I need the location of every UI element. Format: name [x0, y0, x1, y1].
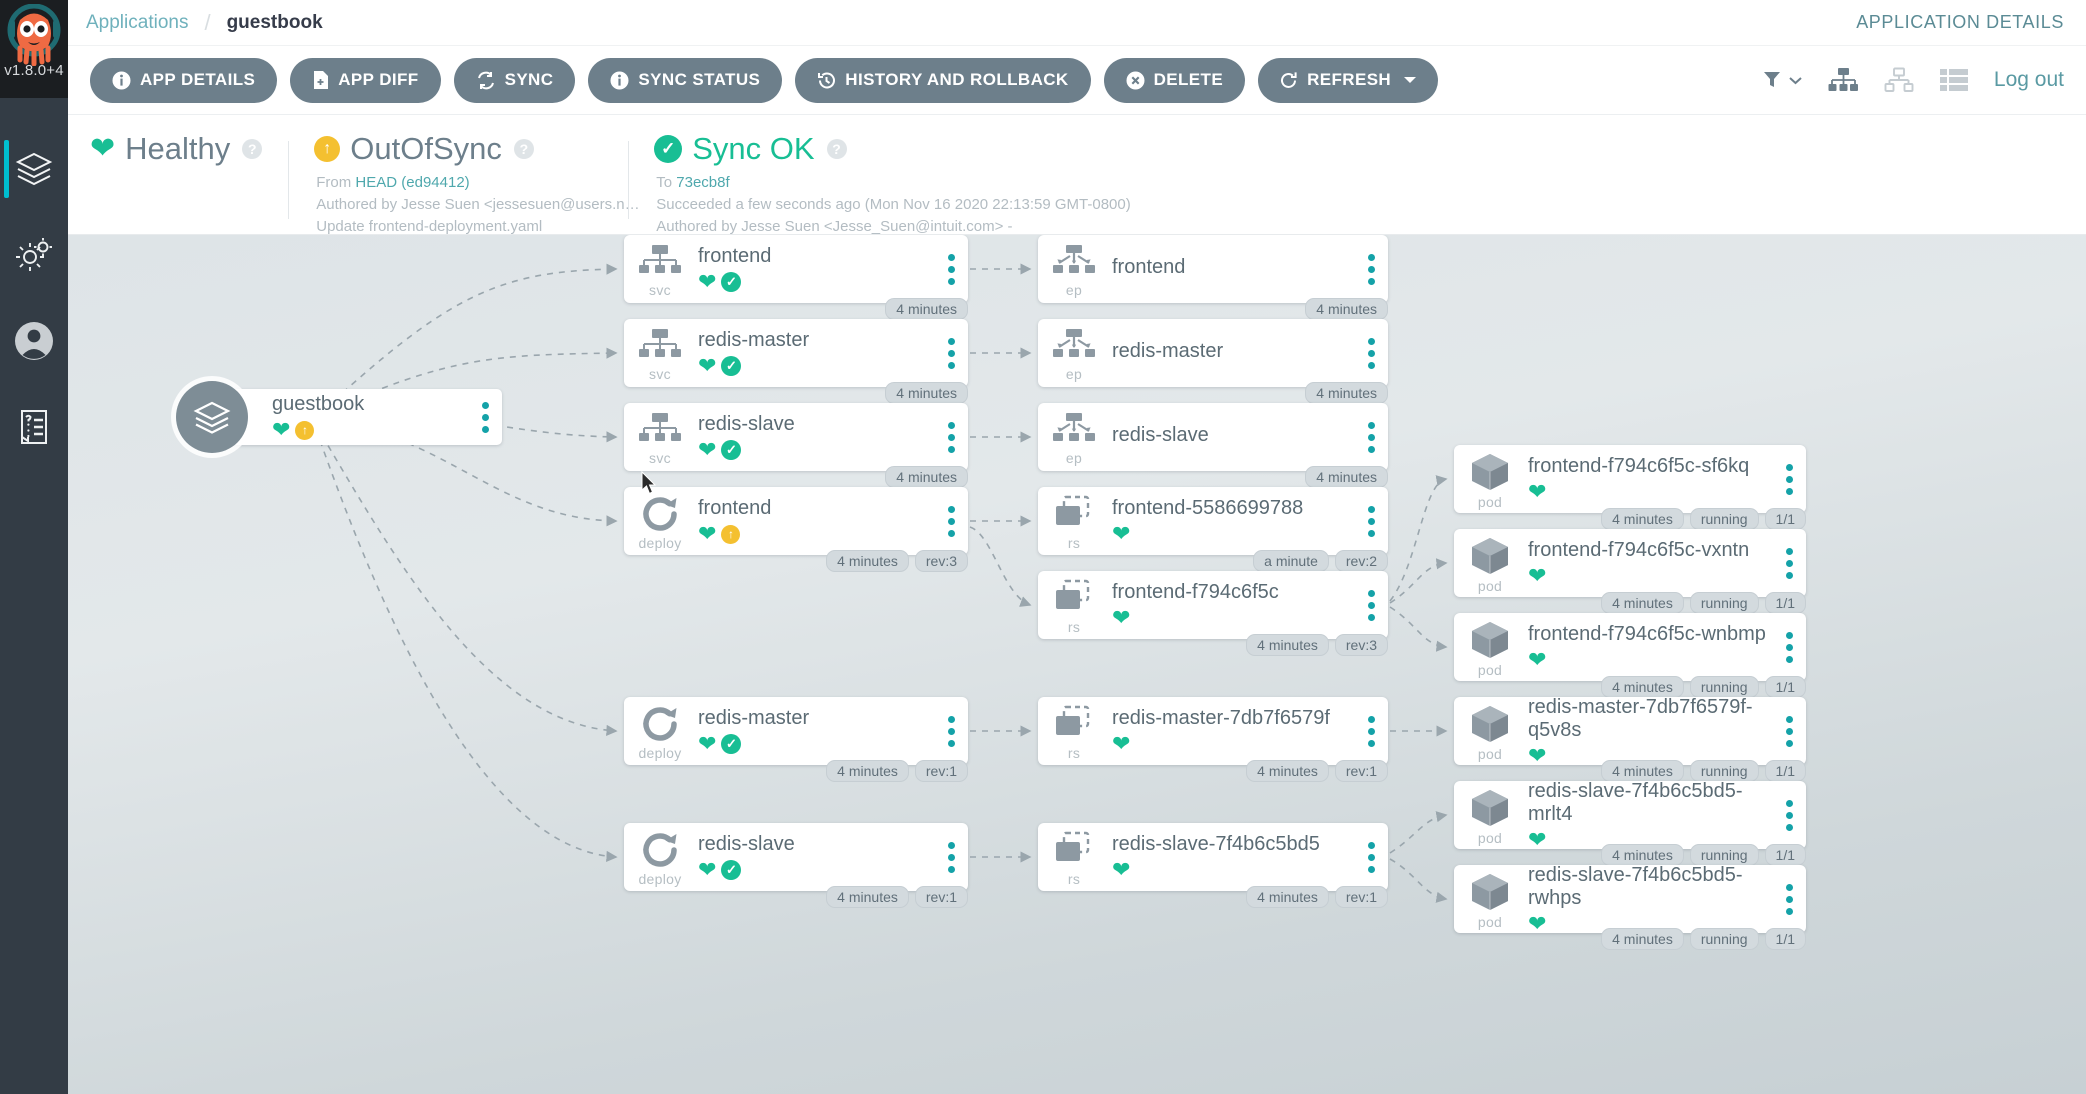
sync-help-icon[interactable]: ? [514, 139, 534, 159]
health-status-header: ❤ Healthy ? [90, 131, 262, 167]
application-root-node[interactable]: guestbook ❤ ↑ [176, 381, 502, 453]
filter-icon[interactable] [1763, 70, 1802, 90]
node-pill: 4 minutes [1601, 592, 1684, 614]
node-body: frontend-5586699788 ❤ [1110, 487, 1354, 555]
node-menu-button[interactable] [1772, 445, 1806, 513]
node-title: frontend [698, 497, 934, 520]
operation-succeeded-line: Succeeded a few seconds ago (Mon Nov 16 … [656, 194, 1130, 216]
history-rollback-button-label: HISTORY AND ROLLBACK [845, 70, 1068, 90]
application-details-link[interactable]: APPLICATION DETAILS [1856, 12, 2064, 33]
resource-node-svc-frontend[interactable]: svc frontend ❤✓ 4 minutes [624, 235, 968, 303]
node-pill-group: 4 minutesrunning1/1 [1601, 508, 1806, 530]
deployment-icon: deploy [624, 487, 696, 555]
breadcrumb-separator: / [204, 10, 210, 36]
info-icon [610, 71, 629, 90]
node-status-badges: ❤✓ [698, 439, 934, 461]
history-clock-icon [817, 71, 836, 90]
sync-status-detail: From HEAD (ed94412) Authored by Jesse Su… [316, 172, 602, 237]
node-body: redis-slave ❤✓ [696, 403, 934, 471]
node-status-badges: ❤✓ [698, 859, 934, 881]
breadcrumb-bar: Applications / guestbook APPLICATION DET… [68, 0, 2086, 46]
node-body: redis-slave-7f4b6c5bd5-rwhps ❤ [1526, 865, 1772, 933]
resource-node-pod-frontend-wnbmp[interactable]: pod frontend-f794c6f5c-wnbmp ❤ 4 minutes… [1454, 613, 1806, 681]
node-status-badges: ❤ [1112, 733, 1354, 755]
resource-node-deploy-redis-slave[interactable]: deploy redis-slave ❤✓ 4 minutesrev:1 [624, 823, 968, 891]
logout-button[interactable]: Log out [1994, 68, 2064, 92]
pod-icon: pod [1454, 529, 1526, 597]
out-of-sync-arrow-icon: ↑ [314, 136, 340, 162]
node-title: frontend [1112, 256, 1354, 279]
node-title: frontend-f794c6f5c-wnbmp [1528, 623, 1772, 646]
sync-source-revision[interactable]: HEAD (ed94412) [355, 174, 469, 191]
application-layers-icon [176, 381, 248, 453]
sync-status-button-label: SYNC STATUS [638, 70, 760, 90]
user-circle-icon [13, 320, 55, 362]
resource-node-deploy-redis-master[interactable]: deploy redis-master ❤✓ 4 minutesrev:1 [624, 697, 968, 765]
book-help-icon [16, 407, 52, 447]
heart-icon: ❤ [1528, 829, 1546, 851]
heart-icon: ❤ [698, 859, 716, 881]
refresh-button-label: REFRESH [1307, 70, 1391, 90]
operation-status-header: ✓ Sync OK ? [654, 131, 1130, 167]
heart-icon: ❤ [1528, 649, 1546, 671]
app-diff-button[interactable]: APP DIFF [290, 58, 440, 103]
replicaset-icon: rs [1038, 823, 1110, 891]
node-pill-group: 4 minutesrev:1 [826, 760, 968, 782]
node-pill-group: 4 minutes [1305, 382, 1388, 404]
sidebar-item-settings[interactable] [0, 212, 68, 298]
check-circle-icon: ✓ [721, 356, 741, 376]
node-menu-button[interactable] [1354, 319, 1388, 387]
endpoint-icon: ep [1038, 403, 1110, 471]
node-title: redis-slave-7f4b6c5bd5-mrlt4 [1528, 780, 1772, 826]
resource-node-pod-frontend-vxntn[interactable]: pod frontend-f794c6f5c-vxntn ❤ 4 minutes… [1454, 529, 1806, 597]
node-pill: running [1690, 928, 1759, 950]
deployment-icon: deploy [624, 823, 696, 891]
node-pill: 4 minutes [1601, 508, 1684, 530]
node-body: redis-master ❤✓ [696, 697, 934, 765]
delete-button[interactable]: DELETE [1104, 58, 1245, 103]
node-pill: 4 minutes [885, 382, 968, 404]
node-pill: rev:3 [1335, 634, 1388, 656]
node-pill: 4 minutes [1305, 298, 1388, 320]
list-view-icon[interactable] [1940, 68, 1968, 92]
node-title: frontend-f794c6f5c-vxntn [1528, 539, 1772, 562]
pod-icon: pod [1454, 781, 1526, 849]
node-status-badges: ❤✓ [698, 733, 934, 755]
argocd-application-page: v1.8.0+4 [0, 0, 2086, 1094]
heart-icon: ❤ [1528, 565, 1546, 587]
node-pill: 4 minutes [1601, 928, 1684, 950]
network-view-icon[interactable] [1884, 67, 1914, 93]
out-of-sync-arrow-icon: ↑ [295, 421, 314, 440]
node-title: frontend-f794c6f5c-sf6kq [1528, 455, 1772, 478]
check-circle-icon: ✓ [721, 860, 741, 880]
node-title: redis-slave [1112, 424, 1354, 447]
heart-icon: ❤ [698, 523, 716, 545]
node-status-badges: ❤ [1112, 859, 1354, 881]
mouse-cursor [641, 471, 659, 501]
node-kind-label: rs [1068, 619, 1080, 635]
service-icon: svc [624, 235, 696, 303]
node-pill: 4 minutes [885, 298, 968, 320]
node-body: redis-master-7db7f6579f-q5v8s ❤ [1526, 697, 1772, 765]
resource-node-ep-redis-slave[interactable]: ep redis-slave 4 minutes [1038, 403, 1388, 471]
node-status-badges: ❤ [1528, 481, 1772, 503]
sync-status-header: ↑ OutOfSync ? [314, 131, 602, 167]
node-kind-label: deploy [638, 871, 681, 887]
application-root-badges: ❤ ↑ [272, 419, 468, 441]
node-pill: rev:1 [915, 760, 968, 782]
node-body: frontend-f794c6f5c ❤ [1110, 571, 1354, 639]
application-root-body: guestbook ❤ ↑ [270, 393, 468, 441]
breadcrumb-applications[interactable]: Applications [86, 12, 188, 34]
delete-button-label: DELETE [1154, 70, 1223, 90]
heart-icon: ❤ [698, 355, 716, 377]
node-pill-group: 4 minutes [1305, 298, 1388, 320]
node-pill: 1/1 [1765, 508, 1806, 530]
node-pill: 4 minutes [1246, 886, 1329, 908]
node-status-badges: ❤ [1528, 565, 1772, 587]
info-icon [112, 71, 131, 90]
application-root-card[interactable]: guestbook ❤ ↑ [232, 389, 502, 445]
app-diff-button-label: APP DIFF [338, 70, 418, 90]
node-kind-label: pod [1478, 494, 1502, 510]
node-body: redis-master-7db7f6579f ❤ [1110, 697, 1354, 765]
node-kind-label: ep [1066, 366, 1082, 382]
node-menu-button[interactable] [1354, 823, 1388, 891]
operation-target-revision[interactable]: 73ecb8f [676, 174, 729, 191]
node-pill: 4 minutes [885, 466, 968, 488]
node-pill-group: 4 minutesrev:1 [1246, 760, 1388, 782]
node-status-badges: ❤✓ [698, 355, 934, 377]
heart-icon: ❤ [1112, 733, 1130, 755]
node-pill-group: 4 minutesrev:3 [1246, 634, 1388, 656]
resource-tree-canvas[interactable]: guestbook ❤ ↑ svc frontend ❤✓ [68, 235, 2086, 1094]
node-kind-label: rs [1068, 871, 1080, 887]
node-kind-label: svc [649, 450, 671, 466]
node-body: redis-master [1110, 319, 1354, 387]
tree-view-icon[interactable] [1828, 67, 1858, 93]
resource-node-ep-frontend[interactable]: ep frontend 4 minutes [1038, 235, 1388, 303]
resource-node-pod-redis-slave-rwhps[interactable]: pod redis-slave-7f4b6c5bd5-rwhps ❤ 4 min… [1454, 865, 1806, 933]
resource-node-rs-frontend-5586699788[interactable]: rs frontend-5586699788 ❤ a minuterev:2 [1038, 487, 1388, 555]
node-pill-group: 4 minutes [1305, 466, 1388, 488]
node-pill-group: 4 minutesrunning1/1 [1601, 928, 1806, 950]
node-pill: rev:1 [1335, 760, 1388, 782]
history-rollback-button[interactable]: HISTORY AND ROLLBACK [795, 58, 1090, 103]
node-pill: 4 minutes [826, 886, 909, 908]
node-pill: 1/1 [1765, 928, 1806, 950]
heart-icon: ❤ [698, 733, 716, 755]
resource-node-pod-redis-master-q5v8s[interactable]: pod redis-master-7db7f6579f-q5v8s ❤ 4 mi… [1454, 697, 1806, 765]
health-help-icon[interactable]: ? [242, 139, 262, 159]
heart-icon: ❤ [1528, 913, 1546, 935]
health-status-title: Healthy [125, 131, 230, 167]
application-root-menu-button[interactable] [468, 402, 502, 433]
operation-status-title: Sync OK [692, 131, 814, 167]
node-pill: 4 minutes [1246, 634, 1329, 656]
node-body: frontend ❤✓ [696, 235, 934, 303]
sync-author-line: Authored by Jesse Suen <jessesuen@users.… [316, 194, 602, 216]
sidebar-item-applications[interactable] [0, 126, 68, 212]
node-menu-button[interactable] [1354, 235, 1388, 303]
argo-logo-block: v1.8.0+4 [0, 0, 68, 98]
operation-to-line: To 73ecb8f [656, 172, 1130, 194]
node-title: redis-slave-7f4b6c5bd5 [1112, 833, 1354, 856]
node-body: redis-slave [1110, 403, 1354, 471]
node-title: redis-master [698, 707, 934, 730]
node-title: frontend-5586699788 [1112, 497, 1354, 520]
operation-author-line: Authored by Jesse Suen <Jesse_Suen@intui… [656, 216, 1130, 238]
node-menu-button[interactable] [934, 319, 968, 387]
node-pill: 1/1 [1765, 592, 1806, 614]
node-pill: a minute [1253, 550, 1329, 572]
operation-to-label: To [656, 174, 676, 191]
node-kind-label: pod [1478, 578, 1502, 594]
node-body: frontend [1110, 235, 1354, 303]
deployment-icon: deploy [624, 697, 696, 765]
node-pill: rev:2 [1335, 550, 1388, 572]
node-status-badges: ❤✓ [698, 271, 934, 293]
pod-icon: pod [1454, 697, 1526, 765]
node-kind-label: pod [1478, 830, 1502, 846]
breadcrumb-current-app: guestbook [227, 12, 323, 34]
node-menu-button[interactable] [934, 235, 968, 303]
resource-node-rs-redis-master-7db7f6579f[interactable]: rs redis-master-7db7f6579f ❤ 4 minutesre… [1038, 697, 1388, 765]
sync-button-label: SYNC [505, 70, 554, 90]
sync-arrows-icon [476, 71, 496, 90]
node-title: redis-master [1112, 340, 1354, 363]
check-circle-icon: ✓ [721, 440, 741, 460]
out-of-sync-arrow-icon: ↑ [721, 525, 740, 544]
node-menu-button[interactable] [1772, 697, 1806, 765]
node-kind-label: pod [1478, 746, 1502, 762]
delete-x-circle-icon [1126, 71, 1145, 90]
node-kind-label: pod [1478, 914, 1502, 930]
left-nav-rail: v1.8.0+4 [0, 0, 68, 1094]
node-status-badges: ❤↑ [698, 523, 934, 545]
node-pill-group: 4 minutesrev:1 [1246, 886, 1388, 908]
node-kind-label: pod [1478, 662, 1502, 678]
replicaset-icon: rs [1038, 487, 1110, 555]
node-title: redis-slave [698, 833, 934, 856]
resource-node-deploy-frontend[interactable]: deploy frontend ❤↑ 4 minutesrev:3 [624, 487, 968, 555]
resource-node-svc-redis-slave[interactable]: svc redis-slave ❤✓ 4 minutes [624, 403, 968, 471]
node-title: frontend [698, 245, 934, 268]
app-details-button-label: APP DETAILS [140, 70, 255, 90]
node-body: redis-master ❤✓ [696, 319, 934, 387]
endpoint-icon: ep [1038, 319, 1110, 387]
node-pill: 4 minutes [1305, 382, 1388, 404]
check-circle-icon: ✓ [654, 135, 682, 163]
node-pill: rev:3 [915, 550, 968, 572]
sync-detail-line: From HEAD (ed94412) [316, 172, 602, 194]
resource-node-rs-redis-slave-7f4b6c5bd5[interactable]: rs redis-slave-7f4b6c5bd5 ❤ 4 minutesrev… [1038, 823, 1388, 891]
argo-octopus-logo-icon [6, 4, 62, 66]
node-title: redis-master-7db7f6579f [1112, 707, 1354, 730]
node-pill: 4 minutes [826, 550, 909, 572]
node-title: redis-slave [698, 413, 934, 436]
node-menu-button[interactable] [934, 697, 968, 765]
refresh-button[interactable]: REFRESH [1258, 58, 1438, 103]
node-kind-label: svc [649, 282, 671, 298]
node-title: redis-master [698, 329, 934, 352]
sidebar-item-documentation[interactable] [0, 384, 68, 470]
node-pill: 4 minutes [1246, 760, 1329, 782]
node-menu-button[interactable] [1354, 571, 1388, 639]
sync-button[interactable]: SYNC [454, 58, 576, 103]
node-kind-label: svc [649, 366, 671, 382]
node-menu-button[interactable] [1772, 781, 1806, 849]
node-pill-group: 4 minutes [885, 298, 968, 320]
layers-icon [14, 149, 54, 189]
sync-commit-message: Update frontend-deployment.yaml [316, 216, 602, 238]
node-body: redis-slave-7f4b6c5bd5 ❤ [1110, 823, 1354, 891]
node-pill-group: 4 minutesrev:1 [826, 886, 968, 908]
node-pill-group: 4 minutesrunning1/1 [1601, 592, 1806, 614]
node-menu-button[interactable] [1772, 529, 1806, 597]
node-body: frontend-f794c6f5c-wnbmp ❤ [1526, 613, 1772, 681]
node-kind-label: deploy [638, 745, 681, 761]
node-body: frontend-f794c6f5c-vxntn ❤ [1526, 529, 1772, 597]
application-status-bar: ❤ Healthy ? ↑ OutOfSync ? From HEAD (ed9… [68, 115, 2086, 235]
node-menu-button[interactable] [1772, 865, 1806, 933]
node-pill: 4 minutes [1305, 466, 1388, 488]
heart-icon: ❤ [90, 134, 115, 164]
chevron-down-icon [1404, 77, 1416, 83]
pod-icon: pod [1454, 613, 1526, 681]
refresh-icon [1280, 71, 1298, 90]
service-icon: svc [624, 319, 696, 387]
node-pill: rev:1 [1335, 886, 1388, 908]
node-title: redis-master-7db7f6579f-q5v8s [1528, 696, 1772, 742]
endpoint-icon: ep [1038, 235, 1110, 303]
sync-status-button[interactable]: SYNC STATUS [588, 58, 782, 103]
resource-node-pod-frontend-sf6kq[interactable]: pod frontend-f794c6f5c-sf6kq ❤ 4 minutes… [1454, 445, 1806, 513]
node-pill-group: 4 minutes [885, 382, 968, 404]
node-body: frontend ❤↑ [696, 487, 934, 555]
heart-icon: ❤ [698, 271, 716, 293]
sidebar-item-user-info[interactable] [0, 298, 68, 384]
app-details-button[interactable]: APP DETAILS [90, 58, 277, 103]
node-menu-button[interactable] [1354, 487, 1388, 555]
node-pill: running [1690, 508, 1759, 530]
node-pill-group: 4 minutes [885, 466, 968, 488]
rail-item-list [0, 126, 68, 470]
pod-icon: pod [1454, 865, 1526, 933]
node-pill-group: 4 minutesrev:3 [826, 550, 968, 572]
toolbar-right-group: Log out [1763, 67, 2086, 93]
resource-node-rs-frontend-f794c6f5c[interactable]: rs frontend-f794c6f5c ❤ 4 minutesrev:3 [1038, 571, 1388, 639]
heart-icon: ❤ [1528, 481, 1546, 503]
action-toolbar: APP DETAILS APP DIFF SYNC SYNC STATUS [68, 46, 2086, 115]
node-title: frontend-f794c6f5c [1112, 581, 1354, 604]
gears-icon [14, 236, 54, 274]
node-pill: 4 minutes [826, 760, 909, 782]
node-body: redis-slave ❤✓ [696, 823, 934, 891]
node-pill-group: a minuterev:2 [1253, 550, 1388, 572]
heart-icon: ❤ [1112, 859, 1130, 881]
node-body: frontend-f794c6f5c-sf6kq ❤ [1526, 445, 1772, 513]
node-pill: running [1690, 592, 1759, 614]
node-kind-label: rs [1068, 745, 1080, 761]
application-root-title: guestbook [272, 393, 468, 416]
node-menu-button[interactable] [1354, 403, 1388, 471]
node-pill: rev:1 [915, 886, 968, 908]
node-menu-button[interactable] [1772, 613, 1806, 681]
pod-icon: pod [1454, 445, 1526, 513]
heart-icon: ❤ [1112, 523, 1130, 545]
sync-status-title: OutOfSync [350, 131, 502, 167]
operation-help-icon[interactable]: ? [827, 139, 847, 159]
node-body: redis-slave-7f4b6c5bd5-mrlt4 ❤ [1526, 781, 1772, 849]
check-circle-icon: ✓ [721, 272, 741, 292]
heart-icon: ❤ [1528, 745, 1546, 767]
replicaset-icon: rs [1038, 571, 1110, 639]
node-title: redis-slave-7f4b6c5bd5-rwhps [1528, 864, 1772, 910]
node-status-badges: ❤ [1112, 607, 1354, 629]
resource-node-ep-redis-master[interactable]: ep redis-master 4 minutes [1038, 319, 1388, 387]
node-status-badges: ❤ [1528, 649, 1772, 671]
health-status-column: ❤ Healthy ? [68, 131, 288, 167]
resource-node-pod-redis-slave-mrlt4[interactable]: pod redis-slave-7f4b6c5bd5-mrlt4 ❤ 4 min… [1454, 781, 1806, 849]
node-kind-label: ep [1066, 282, 1082, 298]
service-icon: svc [624, 403, 696, 471]
node-kind-label: rs [1068, 535, 1080, 551]
node-menu-button[interactable] [934, 403, 968, 471]
file-diff-icon [312, 70, 329, 90]
node-menu-button[interactable] [934, 487, 968, 555]
node-menu-button[interactable] [1354, 697, 1388, 765]
node-status-badges: ❤ [1112, 523, 1354, 545]
heart-icon: ❤ [1112, 607, 1130, 629]
heart-icon: ❤ [272, 419, 290, 441]
sync-from-label: From [316, 174, 355, 191]
check-circle-icon: ✓ [721, 734, 741, 754]
node-kind-label: deploy [638, 535, 681, 551]
replicaset-icon: rs [1038, 697, 1110, 765]
resource-node-svc-redis-master[interactable]: svc redis-master ❤✓ 4 minutes [624, 319, 968, 387]
heart-icon: ❤ [698, 439, 716, 461]
node-menu-button[interactable] [934, 823, 968, 891]
node-kind-label: ep [1066, 450, 1082, 466]
sync-status-column: ↑ OutOfSync ? From HEAD (ed94412) Author… [288, 131, 628, 237]
